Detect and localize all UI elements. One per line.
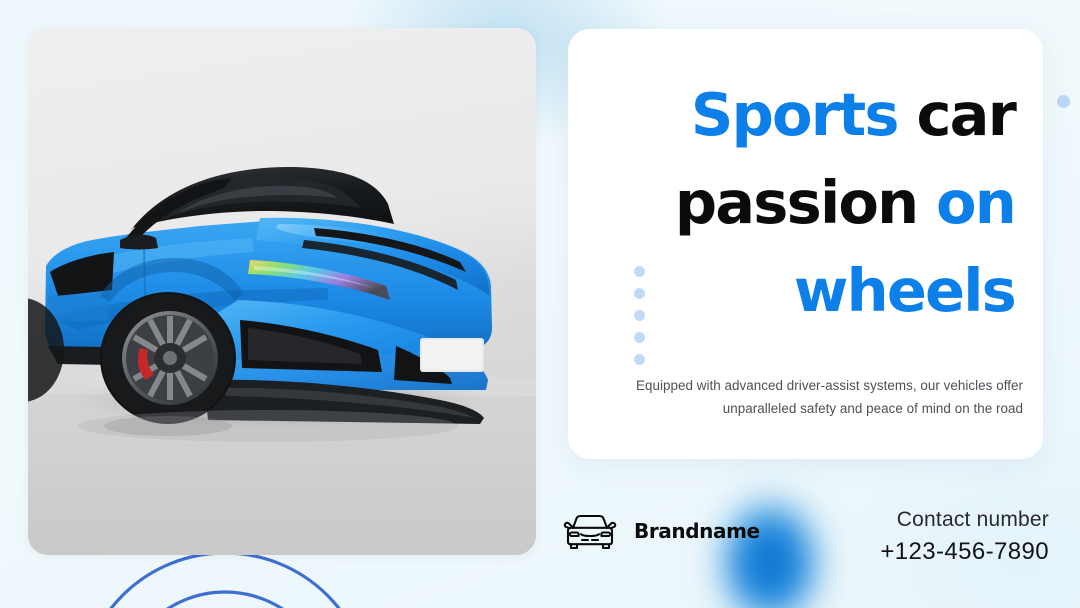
description-text: Equipped with advanced driver-assist sys… <box>628 374 1023 420</box>
bullet-dot <box>634 266 645 277</box>
headline-word-on: on <box>917 168 1015 237</box>
hero-car-photo <box>28 28 536 555</box>
headline-line-2: passion on <box>592 159 1015 247</box>
car-front-icon <box>560 510 620 552</box>
headline-line-3: wheels <box>592 247 1015 335</box>
headline-word-wheels: wheels <box>794 256 1015 325</box>
contact-label: Contact number <box>880 505 1049 535</box>
poster-canvas: Sports car passion on wheels Equipped wi… <box>0 0 1080 608</box>
bullet-dots-decoration <box>634 266 645 365</box>
headline-word-passion: passion <box>675 168 917 237</box>
bullet-dot <box>634 354 645 365</box>
contact-number[interactable]: +123-456-7890 <box>880 535 1049 568</box>
concentric-rings-decoration <box>78 548 378 608</box>
headline-word-car: car <box>898 80 1015 149</box>
headline-word-sports: Sports <box>691 80 898 149</box>
contact-block[interactable]: Contact number +123-456-7890 <box>880 505 1049 568</box>
page-title: Sports car passion on wheels <box>592 71 1015 335</box>
brand-block[interactable]: Brandname <box>560 510 760 552</box>
bullet-dot <box>634 310 645 321</box>
bullet-dot <box>634 332 645 343</box>
bullet-dot <box>634 288 645 299</box>
brand-name-label: Brandname <box>634 519 760 543</box>
content-card: Sports car passion on wheels Equipped wi… <box>568 29 1043 459</box>
right-dot-decoration <box>1057 95 1070 108</box>
headline-line-1: Sports car <box>592 71 1015 159</box>
